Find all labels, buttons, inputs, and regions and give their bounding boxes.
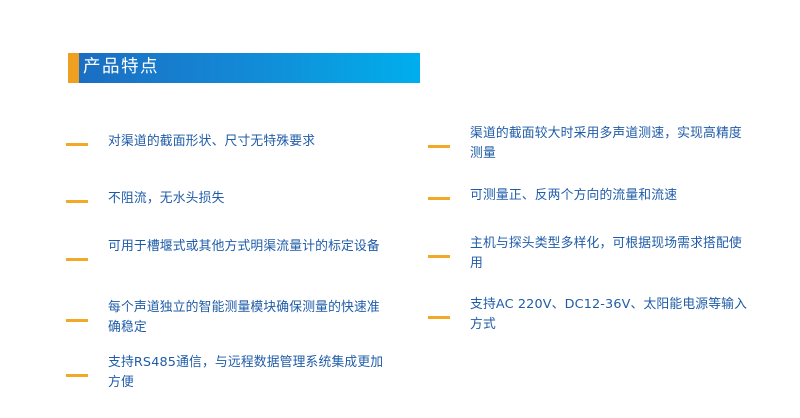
bullet-dash-icon [66, 374, 88, 377]
bullet-dash-icon [428, 255, 450, 258]
bullet-text: 渠道的截面较大时采用多声道测速，实现高精度测量 [470, 124, 748, 164]
bullet-text: 支持RS485通信，与远程数据管理系统集成更加方便 [108, 353, 386, 393]
bullet-item: 支持RS485通信，与远程数据管理系统集成更加方便 [66, 353, 386, 393]
bullet-item: 渠道的截面较大时采用多声道测速，实现高精度测量 [428, 124, 748, 164]
bullet-text: 对渠道的截面形状、尺寸无特殊要求 [108, 132, 386, 152]
bullet-item: 对渠道的截面形状、尺寸无特殊要求 [66, 132, 386, 152]
section-header: 产品特点 [68, 53, 420, 83]
bullet-dash-icon [428, 316, 450, 319]
bullet-item: 可用于槽堰式或其他方式明渠流量计的标定设备 [66, 237, 386, 261]
bullet-item: 不阻流，无水头损失 [66, 189, 386, 209]
slide-canvas: 产品特点 对渠道的截面形状、尺寸无特殊要求不阻流，无水头损失可用于槽堰式或其他方… [0, 0, 800, 418]
bullet-dash-icon [66, 143, 88, 146]
bullet-text: 不阻流，无水头损失 [108, 189, 386, 209]
bullet-item: 主机与探头类型多样化，可根据现场需求搭配使用 [428, 234, 748, 274]
header-band: 产品特点 [79, 53, 420, 83]
bullet-dash-icon [66, 258, 88, 261]
bullet-item: 可测量正、反两个方向的流量和流速 [428, 186, 748, 206]
bullet-dash-icon [66, 200, 88, 203]
bullet-item: 支持AC 220V、DC12-36V、太阳能电源等输入方式 [428, 295, 748, 335]
bullet-text: 可用于槽堰式或其他方式明渠流量计的标定设备 [108, 237, 386, 257]
bullet-dash-icon [428, 145, 450, 148]
header-accent-bar [68, 53, 79, 83]
page-title: 产品特点 [83, 59, 159, 77]
bullet-text: 可测量正、反两个方向的流量和流速 [470, 186, 748, 206]
bullet-text: 支持AC 220V、DC12-36V、太阳能电源等输入方式 [470, 295, 748, 335]
bullet-dash-icon [66, 319, 88, 322]
bullet-item: 每个声道独立的智能测量模块确保测量的快速准确稳定 [66, 298, 386, 338]
bullet-text: 每个声道独立的智能测量模块确保测量的快速准确稳定 [108, 298, 386, 338]
bullet-text: 主机与探头类型多样化，可根据现场需求搭配使用 [470, 234, 748, 274]
bullet-dash-icon [428, 197, 450, 200]
